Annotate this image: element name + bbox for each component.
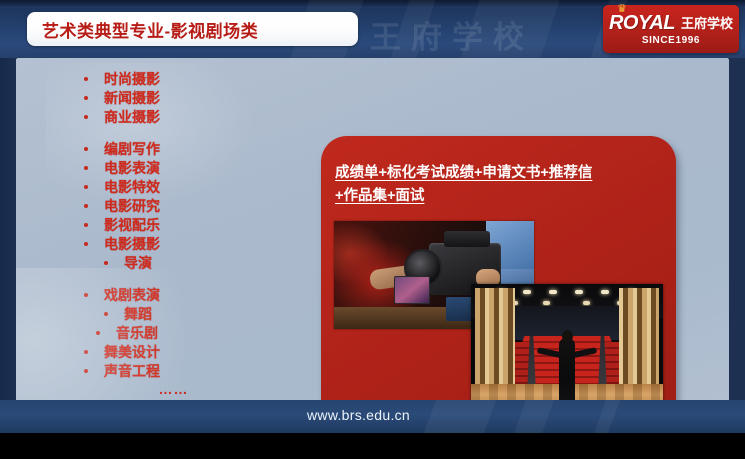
list-item-label: 导演 bbox=[124, 253, 152, 273]
majors-group-theatre: 戏剧表演 舞蹈 音乐剧 舞美设计 声音工程 …… bbox=[56, 286, 291, 397]
bullet-dot-icon bbox=[84, 223, 88, 227]
list-item: 舞美设计 bbox=[56, 343, 291, 361]
performer-head bbox=[562, 330, 573, 342]
bullet-dot-icon bbox=[84, 147, 88, 151]
requirements-line-1: 成绩单+标化考试成绩+申请文书+推荐信 bbox=[335, 162, 665, 185]
bullet-dot-icon bbox=[84, 185, 88, 189]
list-item-label: 戏剧表演 bbox=[104, 285, 160, 305]
application-requirements-panel: 成绩单+标化考试成绩+申请文书+推荐信 +作品集+面试 bbox=[321, 136, 676, 433]
list-item-label: 音乐剧 bbox=[116, 323, 158, 343]
logo-main-row: ♛ ROYAL 王府学校 bbox=[609, 13, 733, 34]
slide-header: 王府学校 艺术类典型专业-影视剧场类 ♛ ROYAL 王府学校 SINCE199… bbox=[0, 0, 745, 58]
bullet-dot-icon bbox=[84, 350, 88, 354]
bottom-black-bar bbox=[0, 433, 745, 459]
list-item-label: 舞美设计 bbox=[104, 342, 160, 362]
requirements-heading: 成绩单+标化考试成绩+申请文书+推荐信 +作品集+面试 bbox=[335, 162, 665, 208]
bullet-dot-icon bbox=[104, 312, 108, 316]
list-item-label: 编剧写作 bbox=[104, 139, 160, 159]
footer-streak bbox=[594, 400, 620, 433]
footer-streak bbox=[514, 400, 554, 433]
logo-since-text: SINCE1996 bbox=[642, 35, 700, 46]
list-item-label: 电影表演 bbox=[104, 158, 160, 178]
stage-light-icon bbox=[583, 301, 590, 305]
left-edge-rail bbox=[0, 58, 16, 459]
list-item-label: 电影摄影 bbox=[104, 234, 160, 254]
stage-light-icon bbox=[543, 301, 550, 305]
bullet-dot-icon bbox=[84, 369, 88, 373]
bullet-dot-icon bbox=[104, 261, 108, 265]
stage-light-icon bbox=[575, 290, 583, 294]
list-item-label: 商业摄影 bbox=[104, 107, 160, 127]
list-item: 电影表演 bbox=[56, 159, 291, 177]
bullet-dot-icon bbox=[96, 331, 100, 335]
right-edge-rail bbox=[729, 58, 745, 459]
theatre-right-wall-panels bbox=[619, 288, 659, 398]
page-title: 艺术类典型专业-影视剧场类 bbox=[27, 17, 258, 42]
list-item: 音乐剧 bbox=[56, 324, 291, 342]
list-item-label: 声音工程 bbox=[104, 361, 160, 381]
majors-group-film: 编剧写作 电影表演 电影特效 电影研究 影视配乐 bbox=[56, 140, 291, 272]
list-ellipsis: …… bbox=[56, 381, 291, 397]
slide-body-panel: 时尚摄影 新闻摄影 商业摄影 编剧写作 电影表演 bbox=[16, 58, 729, 433]
bullet-dot-icon bbox=[84, 293, 88, 297]
list-item-label: 时尚摄影 bbox=[104, 69, 160, 89]
stage-light-icon bbox=[601, 290, 609, 294]
list-item: 电影摄影 bbox=[56, 235, 291, 253]
photo-camera-monitor bbox=[394, 276, 430, 304]
royal-school-logo: ♛ ROYAL 王府学校 SINCE1996 bbox=[603, 5, 739, 53]
footer-streak bbox=[424, 400, 496, 433]
list-item: 戏剧表演 bbox=[56, 286, 291, 304]
page-title-pill: 艺术类典型专业-影视剧场类 bbox=[27, 12, 358, 46]
photo-camera-top-handle bbox=[444, 231, 490, 247]
stage-light-icon bbox=[523, 290, 531, 294]
requirements-line-2: +作品集+面试 bbox=[335, 185, 665, 208]
list-item-label: 电影特效 bbox=[104, 177, 160, 197]
list-item-label: 电影研究 bbox=[104, 196, 160, 216]
list-item-label: 影视配乐 bbox=[104, 215, 160, 235]
bullet-dot-icon bbox=[84, 204, 88, 208]
slide-footer: www.brs.edu.cn bbox=[0, 400, 745, 433]
list-item: 导演 bbox=[56, 254, 291, 272]
stage-light-icon bbox=[549, 290, 557, 294]
list-item: 时尚摄影 bbox=[56, 70, 291, 88]
list-item-label: 新闻摄影 bbox=[104, 88, 160, 108]
crown-icon: ♛ bbox=[617, 4, 627, 15]
list-item: 编剧写作 bbox=[56, 140, 291, 158]
bullet-dot-icon bbox=[84, 166, 88, 170]
list-item: 商业摄影 bbox=[56, 108, 291, 126]
bullet-dot-icon bbox=[84, 77, 88, 81]
theatre-left-wall-panels bbox=[475, 288, 515, 398]
list-item: 电影研究 bbox=[56, 197, 291, 215]
list-item: 电影特效 bbox=[56, 178, 291, 196]
list-item: 新闻摄影 bbox=[56, 89, 291, 107]
footer-website-url: www.brs.edu.cn bbox=[307, 407, 410, 423]
logo-brand-text: ROYAL bbox=[609, 13, 675, 34]
slide: 王府学校 艺术类典型专业-影视剧场类 ♛ ROYAL 王府学校 SINCE199… bbox=[0, 0, 745, 459]
logo-brand-cn-text: 王府学校 bbox=[681, 14, 733, 34]
list-item-label: 舞蹈 bbox=[124, 304, 152, 324]
list-item: 舞蹈 bbox=[56, 305, 291, 323]
list-item: 影视配乐 bbox=[56, 216, 291, 234]
majors-group-photography: 时尚摄影 新闻摄影 商业摄影 bbox=[56, 70, 291, 126]
bullet-dot-icon bbox=[84, 242, 88, 246]
majors-list: 时尚摄影 新闻摄影 商业摄影 编剧写作 电影表演 bbox=[56, 70, 291, 411]
bullet-dot-icon bbox=[84, 96, 88, 100]
list-item: 声音工程 bbox=[56, 362, 291, 380]
bullet-dot-icon bbox=[84, 115, 88, 119]
